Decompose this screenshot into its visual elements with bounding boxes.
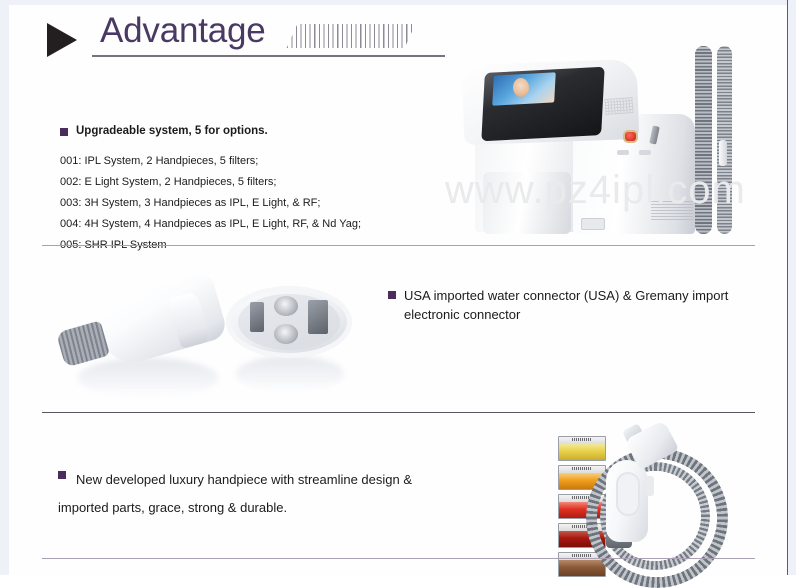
water-connector-side-photo — [48, 280, 228, 405]
section2-label: USA imported water connector (USA) & Gre… — [404, 286, 760, 324]
section1-bullet-item: Upgradeable system, 5 for options. — [60, 124, 420, 139]
connector-port-upper — [274, 296, 298, 316]
section3-label-line1: New developed luxury handpiece with stre… — [76, 466, 412, 494]
triangle-right-icon — [47, 23, 77, 57]
list-item: 001: IPL System, 2 Handpieces, 5 filters… — [60, 151, 420, 172]
filter-yellow — [558, 436, 606, 461]
connector-pin-block-left — [250, 302, 264, 332]
filter-band — [559, 560, 605, 576]
watermark-text: www.pz4ipl.com — [445, 170, 785, 210]
brochure-page: Advantage Upgradeable system, 5 for opti… — [0, 0, 796, 575]
section1-text-block: Upgradeable system, 5 for options. 001: … — [60, 124, 420, 256]
filter-label-marks — [572, 554, 592, 557]
handpiece-grip-opening — [616, 472, 640, 516]
connector-pin-block-right — [308, 300, 328, 334]
section3-text-block: New developed luxury handpiece with stre… — [58, 466, 458, 522]
photo-reflection — [236, 356, 344, 392]
diagonal-hatch-decoration-icon — [287, 24, 416, 48]
connector-port-lower — [274, 324, 298, 344]
section-divider-3 — [42, 558, 755, 559]
page-edge-top — [0, 0, 796, 5]
connector-barrel — [93, 272, 228, 369]
page-border-right — [787, 0, 788, 575]
page-header: Advantage — [42, 8, 412, 64]
section-divider-1 — [42, 245, 755, 246]
list-item: 003: 3H System, 3 Handpieces as IPL, E L… — [60, 193, 420, 214]
hose-tip — [719, 140, 727, 166]
square-bullet-icon — [60, 128, 68, 136]
connector-port-left — [617, 150, 629, 155]
section1-bullet-label: Upgradeable system, 5 for options. — [76, 124, 268, 139]
filter-band — [559, 444, 605, 460]
ipl-machine-photo: www.pz4ipl.com — [455, 22, 775, 237]
page-title: Advantage — [100, 11, 266, 51]
title-underline — [92, 55, 445, 57]
photo-reflection — [78, 358, 218, 398]
list-item: 002: E Light System, 2 Handpieces, 5 fil… — [60, 172, 420, 193]
square-bullet-icon — [58, 471, 66, 479]
filter-label-marks — [572, 467, 592, 470]
machine-vent-top — [604, 97, 633, 115]
luxury-handpiece-with-filters-photo — [548, 424, 768, 564]
electronic-connector-face-photo — [218, 280, 378, 405]
handpiece-side-button — [646, 476, 654, 496]
connector-ribbed-collar — [56, 320, 110, 367]
section3-bullet-row: New developed luxury handpiece with stre… — [58, 466, 458, 494]
emergency-stop-button — [625, 132, 636, 141]
filter-label-marks — [572, 438, 592, 441]
page-edge-left — [0, 0, 9, 575]
section3-label-line2: imported parts, grace, strong & durable. — [58, 494, 458, 522]
connector-port-right — [639, 150, 651, 155]
list-item: 004: 4H System, 4 Handpieces as IPL, E L… — [60, 214, 420, 235]
section2-text-block: USA imported water connector (USA) & Gre… — [388, 286, 760, 324]
section-divider-2 — [42, 412, 755, 413]
square-bullet-icon — [388, 291, 396, 299]
page-edge-right — [788, 0, 796, 575]
machine-latch — [581, 218, 605, 230]
